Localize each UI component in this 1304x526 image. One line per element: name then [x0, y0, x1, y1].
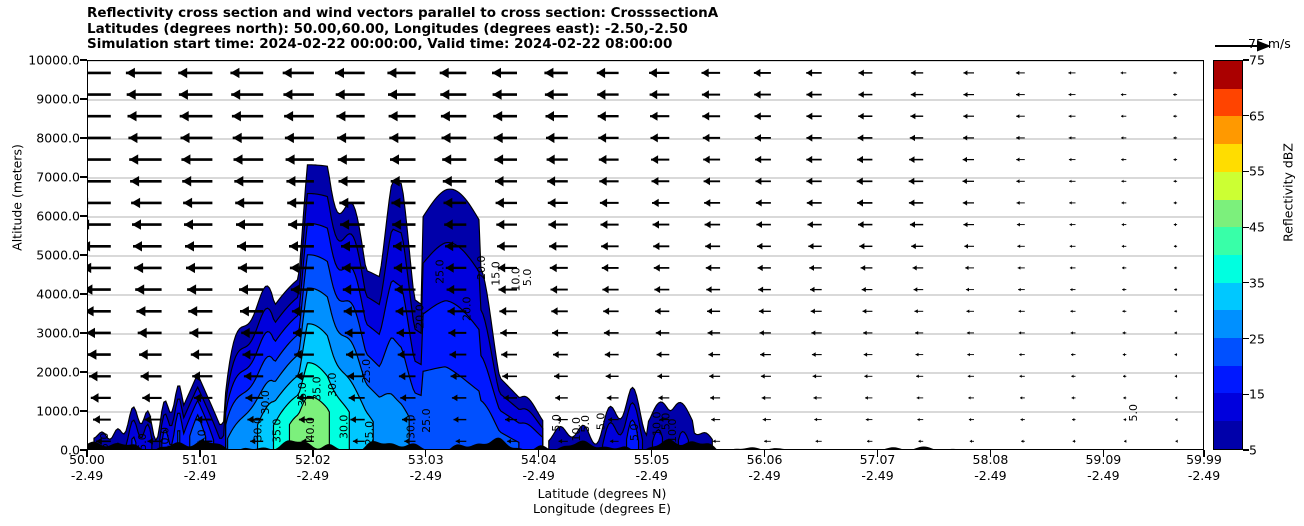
wind-vector-head	[1016, 158, 1019, 162]
contour-label: 5.0	[550, 414, 563, 432]
wind-vector-head	[1017, 223, 1020, 227]
colorbar-band	[1214, 89, 1242, 117]
colorbar-tick-mark	[1243, 115, 1249, 116]
wind-vector-head	[706, 265, 712, 272]
wind-vector-head	[185, 241, 194, 251]
x-axis-tick-label-lon: -2.49	[1186, 468, 1222, 484]
wind-vector-head	[184, 219, 193, 229]
wind-vector-head	[913, 265, 917, 270]
colorbar-band	[1214, 338, 1242, 366]
wind-vector-head	[703, 156, 710, 164]
wind-vector-head	[1122, 201, 1124, 204]
wind-vector-head	[339, 176, 348, 187]
wind-vector-head	[1174, 288, 1176, 291]
wind-vector-head	[708, 352, 713, 358]
wind-vector-head	[653, 242, 659, 250]
x-axis-label-latitude: Latitude (degrees N)	[0, 486, 1204, 501]
chart-title-block: Reflectivity cross section and wind vect…	[87, 6, 1087, 53]
wind-vector-head	[809, 265, 814, 271]
wind-vector-head	[288, 219, 297, 229]
wind-vector-head	[336, 89, 345, 99]
wind-vector-head	[1021, 418, 1023, 421]
contour-label: 30.0	[337, 415, 350, 440]
wind-vector-head	[968, 396, 970, 399]
wind-vector-head	[495, 176, 504, 187]
wind-vector-head	[605, 351, 610, 358]
contour-label: 30.0	[259, 390, 272, 415]
wind-vector-head	[963, 114, 967, 119]
wind-vector-head	[339, 198, 348, 208]
wind-vector-head	[187, 284, 196, 294]
wind-vector-head	[492, 68, 501, 78]
wind-vector-head	[1020, 396, 1022, 399]
contour-label: 10.0	[570, 417, 583, 442]
wind-vector-head	[1070, 310, 1072, 313]
wind-vector-head	[1021, 440, 1023, 443]
colorbar-band	[1214, 61, 1242, 89]
colorbar-band	[1214, 227, 1242, 255]
wind-vector-head	[1121, 180, 1123, 183]
wind-vector-head	[335, 68, 344, 78]
plot-area: 5.05.010.05.030.035.030.035.040.035.030.…	[87, 60, 1204, 450]
wind-vector-head	[1174, 245, 1176, 248]
wind-vector-head	[286, 154, 295, 164]
wind-vector-head	[545, 89, 554, 99]
wind-vector-head	[88, 241, 90, 251]
wind-vector-head	[764, 440, 767, 443]
colorbar-band	[1214, 310, 1242, 338]
wind-vector-head	[657, 373, 662, 379]
wind-vector-head	[859, 70, 864, 77]
wind-vector-head	[918, 440, 920, 443]
colorbar-tick-label: 45	[1249, 220, 1265, 235]
wind-vector-head	[1072, 396, 1074, 399]
colorbar-tick-mark	[1243, 282, 1249, 283]
wind-vector-head	[656, 330, 661, 336]
wind-vector-head	[88, 219, 89, 229]
wind-vector-head	[600, 199, 607, 208]
wind-vector-head	[546, 133, 554, 143]
wind-vector-head	[1018, 266, 1021, 269]
wind-vector-head	[1016, 93, 1019, 97]
wind-vector-head	[1016, 71, 1019, 75]
contour-label: 35.0	[296, 382, 309, 407]
wind-vector-head	[813, 374, 817, 378]
wind-vector-head	[1122, 310, 1124, 313]
wind-vector-head	[387, 68, 396, 78]
wind-vector-head	[859, 91, 864, 98]
wind-vector-head	[129, 154, 138, 164]
wind-vector-head	[707, 308, 712, 314]
wind-vector-head	[1068, 71, 1071, 74]
wind-vector-head	[917, 396, 920, 399]
y-axis-tick-mark	[80, 254, 87, 255]
wind-vector-head	[969, 418, 971, 421]
colorbar-tick-label: 5	[1249, 443, 1257, 458]
x-axis-tick-label-lon: -2.49	[69, 468, 105, 484]
y-axis-tick-label: 2000.0	[36, 365, 80, 380]
wind-vector-head	[654, 286, 660, 293]
wind-vector-head	[496, 198, 504, 208]
wind-vector-head	[597, 68, 605, 78]
wind-vector-head	[497, 242, 505, 252]
wind-vector-head	[549, 242, 556, 251]
wind-vector-head	[234, 176, 243, 187]
x-axis-tick-mark	[990, 450, 991, 457]
colorbar-tick-label: 35	[1249, 275, 1265, 290]
x-axis-tick-mark	[86, 450, 87, 457]
wind-vector-head	[1174, 223, 1176, 226]
colorbar-tick-mark	[1243, 394, 1249, 395]
wind-vector-head	[389, 133, 398, 143]
wind-vector-head	[811, 331, 815, 336]
wind-vector-head	[1017, 201, 1020, 205]
wind-vector-head	[866, 418, 869, 421]
wind-vector-head	[806, 91, 812, 98]
wind-vector-head	[188, 306, 197, 316]
wind-vector-head	[808, 243, 813, 249]
wind-vector-head	[554, 373, 559, 380]
wind-vector-head	[189, 328, 198, 338]
colorbar-band	[1214, 255, 1242, 283]
wind-vector-head	[547, 155, 555, 165]
colorbar-title: Reflectivity dBZ	[1281, 113, 1296, 273]
wind-vector-head	[813, 396, 816, 400]
wind-vector-head	[128, 111, 137, 121]
wind-vector-head	[1070, 245, 1072, 248]
wind-vector-head	[284, 111, 293, 121]
wind-vector-head	[238, 263, 247, 273]
wind-vector-head	[132, 219, 141, 229]
wind-vector-head	[761, 374, 765, 379]
wind-vector-head	[1123, 375, 1125, 378]
wind-vector-head	[755, 156, 761, 164]
wind-vector-head	[1071, 375, 1073, 378]
wind-vector-head	[963, 222, 967, 227]
x-axis-tick-mark	[877, 450, 878, 457]
wind-vector-head	[1016, 179, 1019, 183]
wind-vector-head	[235, 198, 244, 208]
wind-vector-head	[1070, 288, 1072, 291]
wind-vector-head	[1174, 158, 1176, 161]
wind-vector-head	[233, 133, 242, 143]
x-axis-tick-label-lon: -2.49	[521, 468, 557, 484]
wind-vector-head	[388, 89, 397, 99]
wind-vector-head	[604, 329, 610, 336]
wind-vector-head	[704, 199, 710, 207]
wind-vector-head	[552, 329, 558, 337]
colorbar-band	[1214, 421, 1242, 449]
wind-vector-head	[1069, 158, 1072, 161]
wind-vector-head	[857, 156, 863, 163]
wind-vector-head	[655, 308, 661, 315]
wind-vector-head	[601, 220, 608, 229]
wind-vector-head	[865, 396, 868, 400]
wind-vector-head	[138, 328, 147, 338]
colorbar-tick-mark	[1243, 59, 1249, 60]
wind-vector-head	[1175, 418, 1177, 421]
wind-reference-label: 75 m/s	[1248, 36, 1291, 51]
wind-vector-head	[440, 89, 449, 99]
wind-vector-head	[963, 70, 967, 75]
wind-vector-head	[496, 220, 504, 230]
wind-vector-head	[180, 111, 189, 121]
wind-vector-head	[654, 264, 660, 271]
wind-vector-head	[1019, 353, 1021, 356]
y-axis-tick-label: 7000.0	[36, 170, 80, 185]
wind-vector-head	[551, 307, 557, 315]
wind-vector-head	[1019, 310, 1021, 313]
wind-vector-head	[285, 133, 294, 143]
wind-vector-head	[1020, 375, 1022, 378]
wind-vector-head	[812, 352, 816, 357]
wind-vector-head	[186, 263, 195, 273]
wind-vector-head	[966, 310, 969, 314]
wind-vector-head	[178, 68, 187, 78]
x-axis-tick-mark	[199, 450, 200, 457]
wind-vector-head	[652, 199, 659, 207]
wind-vector-head	[754, 91, 760, 99]
colorbar-tick-mark	[1243, 171, 1249, 172]
x-axis-tick-label-lon: -2.49	[973, 468, 1009, 484]
wind-vector-head	[709, 374, 713, 379]
x-axis-tick-label-lon: -2.49	[408, 468, 444, 484]
x-axis-tick-label-lon: -2.49	[1085, 468, 1121, 484]
wind-vector-head	[133, 241, 142, 251]
wind-vector-head	[1121, 93, 1123, 96]
x-axis-tick-mark	[1203, 450, 1204, 457]
x-axis-label-longitude: Longitude (degrees E)	[0, 501, 1204, 516]
wind-vector-head	[1173, 93, 1175, 96]
wind-vector-head	[493, 89, 502, 99]
wind-vector-head	[756, 221, 762, 228]
wind-vector-head	[706, 286, 711, 293]
wind-vector-head	[1123, 396, 1125, 399]
contour-label: 40.0	[304, 417, 317, 442]
wind-vector-head	[290, 263, 299, 273]
colorbar-band	[1214, 283, 1242, 311]
wind-vector-head	[910, 221, 915, 227]
wind-vector-head	[601, 242, 608, 250]
contour-label: 25.0	[420, 408, 433, 433]
wind-vector-head	[816, 440, 818, 443]
wind-vector-head	[863, 309, 867, 314]
wind-vector-head	[1070, 223, 1072, 226]
wind-vector-head	[231, 89, 240, 99]
colorbar-band	[1214, 144, 1242, 172]
wind-vector-head	[337, 133, 346, 143]
wind-vector-head	[858, 134, 864, 141]
colorbar-tick-label: 55	[1249, 164, 1265, 179]
y-axis-tick-label: 3000.0	[36, 326, 80, 341]
wind-vector-head	[911, 70, 916, 76]
y-axis-tick-mark	[80, 293, 87, 294]
wind-vector-head	[965, 266, 968, 270]
wind-vector-head	[1176, 440, 1178, 443]
wind-vector-head	[91, 393, 99, 403]
wind-vector-head	[494, 133, 503, 143]
wind-vector-head	[963, 157, 967, 162]
wind-vector-head	[1122, 266, 1124, 269]
colorbar-tick-mark	[1243, 227, 1249, 228]
wind-vector-head	[88, 328, 95, 338]
wind-vector-head	[88, 284, 92, 294]
wind-vector-head	[1174, 266, 1176, 269]
y-axis-tick-mark	[80, 410, 87, 411]
wind-vector-head	[1070, 266, 1072, 269]
contour-label: 20.0	[460, 296, 473, 321]
wind-vector-head	[864, 374, 867, 378]
wind-vector-head	[966, 288, 969, 292]
wind-vector-head	[713, 440, 716, 444]
wind-vector-head	[1069, 180, 1071, 183]
wind-vector-head	[651, 133, 658, 142]
y-axis-tick-mark	[80, 332, 87, 333]
wind-vector-head	[705, 221, 711, 228]
wind-vector-head	[240, 306, 249, 316]
colorbar-tick-mark	[1243, 338, 1249, 339]
colorbar	[1213, 60, 1243, 450]
wind-vector-head	[389, 111, 398, 121]
y-axis-tick-mark	[80, 215, 87, 216]
wind-vector-head	[1122, 288, 1124, 291]
wind-vector-head	[858, 113, 864, 120]
colorbar-tick-label: 75	[1249, 53, 1265, 68]
wind-vector-head	[1123, 353, 1125, 356]
y-axis-tick-label: 5000.0	[36, 248, 80, 263]
wind-vector-head	[548, 198, 556, 208]
wind-vector-head	[287, 198, 296, 208]
wind-vector-head	[442, 154, 451, 164]
wind-vector-head	[909, 178, 915, 185]
wind-vector-head	[756, 178, 762, 185]
wind-vector-head	[289, 241, 298, 251]
colorbar-tick-mark	[1243, 449, 1249, 450]
wind-vector-head	[1072, 418, 1074, 421]
contour-label: 5.0	[521, 269, 534, 287]
wind-vector-head	[1121, 71, 1123, 74]
wind-vector-head	[763, 418, 766, 422]
wind-vector-head	[705, 243, 711, 250]
x-axis-tick-label-lon: -2.49	[860, 468, 896, 484]
wind-vector-head	[653, 221, 659, 229]
wind-vector-head	[441, 111, 450, 121]
wind-vector-head	[135, 284, 144, 294]
wind-vector-head	[597, 90, 605, 100]
x-axis-tick-label-lon: -2.49	[295, 468, 331, 484]
wind-vector-head	[910, 113, 915, 119]
wind-vector-head	[237, 241, 246, 251]
wind-vector-head	[544, 68, 553, 78]
wind-vector-head	[911, 243, 916, 249]
wind-vector-head	[857, 199, 863, 206]
wind-vector-head	[390, 154, 399, 164]
wind-vector-head	[181, 154, 190, 164]
wind-vector-head	[500, 329, 506, 337]
wind-vector-head	[968, 375, 970, 378]
wind-vector-head	[1121, 115, 1123, 118]
y-axis-tick-label: 10000.0	[28, 53, 80, 68]
wind-vector-head	[502, 373, 508, 380]
wind-vector-head	[757, 243, 762, 250]
wind-vector-head	[336, 111, 345, 121]
y-axis-tick-mark	[80, 371, 87, 372]
y-axis-tick-label: 6000.0	[36, 209, 80, 224]
y-axis-tick-label: 8000.0	[36, 131, 80, 146]
contour-label: 30.0	[326, 372, 339, 397]
wind-vector-head	[702, 69, 709, 78]
wind-vector-head	[548, 220, 556, 229]
y-axis-tick-mark	[80, 137, 87, 138]
wind-vector-head	[808, 221, 813, 228]
wind-vector-head	[139, 349, 148, 359]
wind-vector-head	[1073, 440, 1075, 443]
wind-vector-head	[867, 440, 869, 443]
wind-vector-head	[806, 113, 812, 120]
wind-vector-head	[1018, 288, 1021, 291]
wind-vector-head	[650, 112, 658, 121]
x-axis-tick-mark	[312, 450, 313, 457]
wind-vector-head	[657, 352, 662, 358]
contour-label: 20.0	[413, 304, 426, 329]
wind-vector-head	[967, 353, 970, 356]
wind-vector-head	[964, 244, 968, 249]
wind-vector-head	[755, 134, 761, 142]
wind-vector-head	[179, 89, 188, 99]
x-axis-tick-mark	[425, 450, 426, 457]
wind-vector-head	[1122, 245, 1124, 248]
wind-vector-head	[88, 349, 96, 359]
wind-vector-head	[755, 112, 761, 120]
wind-vector-head	[910, 135, 915, 141]
colorbar-tick-label: 65	[1249, 108, 1265, 123]
colorbar-band	[1214, 366, 1242, 394]
wind-vector-head	[501, 351, 507, 359]
x-axis-tick-label-lon: -2.49	[182, 468, 218, 484]
wind-vector-head	[136, 306, 145, 316]
wind-vector-head	[1174, 180, 1176, 183]
y-axis-label: Altitude (meters)	[10, 118, 25, 278]
y-axis-tick-mark	[80, 59, 87, 60]
wind-vector-head	[704, 177, 710, 185]
wind-vector-head	[1069, 115, 1072, 118]
wind-vector-head	[236, 219, 245, 229]
wind-vector-head	[443, 176, 452, 187]
wind-vector-head	[550, 264, 557, 273]
x-axis-tick-mark	[1103, 450, 1104, 457]
wind-vector-head	[911, 92, 916, 98]
wind-vector-head	[181, 133, 190, 143]
wind-vector-head	[127, 89, 136, 99]
wind-vector-head	[702, 90, 709, 99]
wind-vector-head	[286, 176, 295, 187]
y-axis-tick-mark	[80, 176, 87, 177]
wind-vector-head	[602, 286, 608, 294]
wind-vector-head	[1124, 418, 1126, 421]
x-axis-tick-mark	[764, 450, 765, 457]
wind-vector-head	[859, 243, 864, 249]
wind-vector-head	[598, 111, 606, 121]
x-axis-tick-mark	[538, 450, 539, 457]
wind-vector-head	[442, 133, 451, 143]
x-axis-tick-label-lon: -2.49	[747, 468, 783, 484]
wind-vector-head	[128, 133, 137, 143]
wind-vector-head	[183, 198, 192, 208]
wind-vector-head	[651, 155, 658, 164]
wind-vector-head	[1017, 245, 1020, 249]
wind-vector-head	[861, 265, 866, 271]
wind-vector-head	[1121, 158, 1123, 161]
